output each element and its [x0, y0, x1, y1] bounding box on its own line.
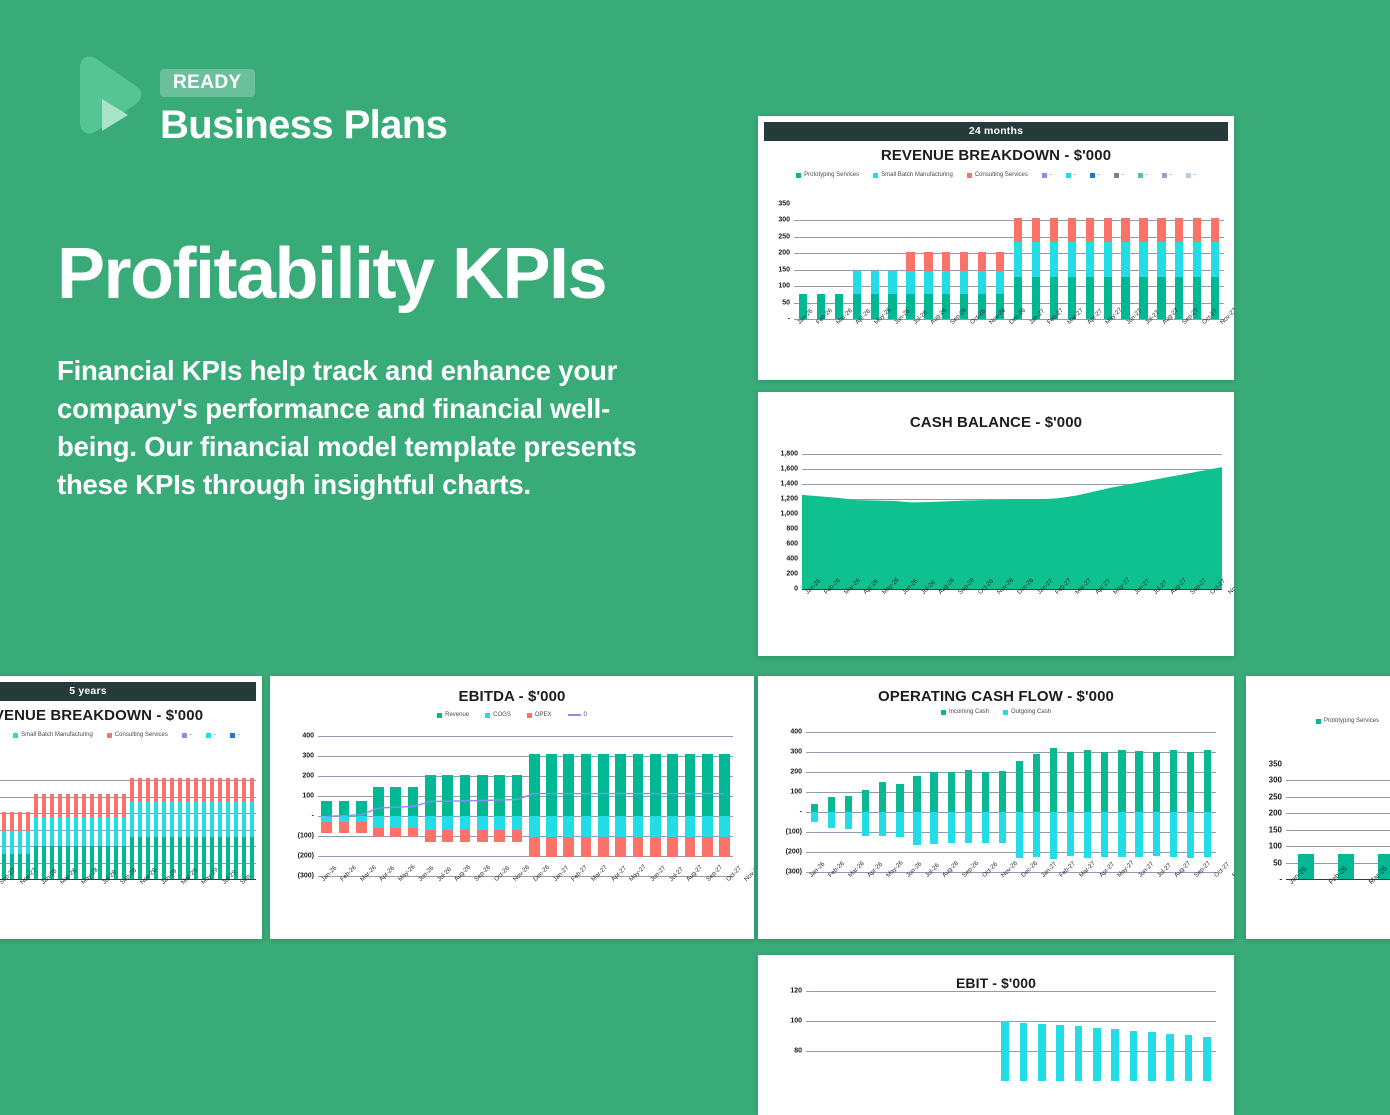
y-axis-tick-label: 1,000 — [780, 511, 802, 518]
bar-group — [1124, 991, 1142, 1081]
x-axis-tick-label: Nov-27 — [1227, 577, 1234, 596]
bar-segment — [34, 794, 38, 817]
y-axis-tick-label: (100) — [298, 833, 318, 840]
bar-segment — [18, 831, 22, 854]
bar-segment — [896, 784, 903, 812]
chart-bars — [0, 764, 256, 879]
bar-segment — [138, 778, 142, 802]
bar-segment — [210, 802, 214, 837]
legend-swatch — [1162, 173, 1167, 178]
bar-segment — [1056, 1025, 1064, 1081]
bar-segment — [1153, 752, 1160, 812]
bar-group — [96, 764, 104, 879]
bar-segment — [1135, 751, 1142, 812]
bar-group — [184, 764, 192, 879]
bar-segment — [1193, 218, 1201, 242]
bar-segment — [154, 778, 158, 802]
bar-segment — [913, 812, 920, 845]
bar-segment — [82, 794, 86, 817]
bar-segment — [1135, 812, 1142, 857]
bar-group — [902, 204, 920, 319]
bar-segment — [1139, 218, 1147, 242]
bar-group — [1045, 204, 1063, 319]
bar-group — [200, 764, 208, 879]
legend-label: Small Batch Manufacturing — [21, 732, 93, 738]
legend-label: COGS — [493, 712, 511, 718]
bar-segment — [98, 817, 102, 847]
bar-segment — [242, 778, 246, 802]
bar-segment — [186, 778, 190, 802]
chart-plot-area: 02004006008001,0001,2001,4001,6001,800Ja… — [802, 454, 1222, 589]
bar-segment — [1204, 812, 1211, 857]
bar-group — [56, 764, 64, 879]
legend-swatch — [1138, 173, 1143, 178]
y-axis-tick-label: 100 — [302, 793, 318, 800]
bar-segment — [828, 812, 835, 828]
legend-label: Small Batch Manufacturing — [881, 172, 953, 178]
bar-segment — [1014, 218, 1022, 242]
bar-segment — [1157, 242, 1165, 277]
legend-swatch — [1066, 173, 1071, 178]
bar-group — [857, 732, 874, 872]
y-axis-tick-label: (100) — [786, 829, 806, 836]
y-axis-tick-label: 250 — [778, 233, 794, 240]
chart-band-label: 5 years — [0, 682, 256, 701]
chart-plot-area: 12010080 — [806, 991, 1216, 1081]
bar-group — [794, 204, 812, 319]
bar-group — [823, 732, 840, 872]
bar-segment — [1075, 1026, 1083, 1081]
bar-group — [1148, 732, 1165, 872]
cash-balance-area — [802, 454, 1222, 589]
card-body: EBIT - $'000 — [764, 975, 1228, 991]
bar-segment — [1068, 218, 1076, 242]
y-axis-tick-label: 800 — [786, 526, 802, 533]
bar-segment — [178, 802, 182, 837]
legend-swatch — [230, 733, 235, 738]
bar-group — [1079, 732, 1096, 872]
legend-item: Consulting Services — [107, 732, 168, 738]
legend-label: OPEX — [535, 712, 552, 718]
legend-label: Consulting Services — [115, 732, 168, 738]
bar-segment — [98, 794, 102, 817]
legend-swatch — [13, 733, 18, 738]
y-axis-tick-label: 200 — [790, 769, 806, 776]
y-axis-tick-label: 200 — [1269, 809, 1286, 818]
bar-segment — [999, 771, 1006, 812]
bar-segment — [982, 812, 989, 843]
bar-group — [144, 764, 152, 879]
bar-segment — [1211, 242, 1219, 277]
bar-segment — [1016, 812, 1023, 858]
bar-group — [1081, 204, 1099, 319]
chart-title: EBIT - $'000 — [764, 975, 1228, 991]
bar-group — [973, 204, 991, 319]
bar-segment — [811, 804, 818, 812]
card-body: EBITDA - $'000RevenueCOGSOPEX0 — [276, 688, 748, 718]
bar-group — [1069, 991, 1087, 1081]
bar-segment — [1139, 242, 1147, 277]
legend-item: OPEX — [527, 712, 552, 718]
y-axis-tick-label: 300 — [1269, 776, 1286, 785]
bar-segment — [138, 837, 142, 879]
chart-card-prototyping-partial: Prototyping Services-5010015020025030035… — [1246, 676, 1390, 939]
bar-segment — [942, 252, 950, 271]
legend-label: - — [1122, 172, 1124, 178]
legend-swatch — [437, 713, 442, 718]
bar-segment — [1157, 218, 1165, 242]
bar-segment — [965, 770, 972, 812]
bar-segment — [250, 778, 254, 802]
legend-label: - — [1050, 172, 1052, 178]
bar-segment — [130, 802, 134, 837]
bar-segment — [106, 817, 110, 847]
legend-swatch — [941, 710, 946, 715]
bar-group — [1188, 204, 1206, 319]
chart-title: OPERATING CASH FLOW - $'000 — [764, 688, 1228, 705]
legend-item: Prototyping Services — [796, 172, 859, 178]
legend-label: Outgoing Cash — [1011, 709, 1051, 715]
bar-segment — [1101, 812, 1108, 857]
bar-segment — [1118, 812, 1125, 857]
bar-segment — [202, 802, 206, 837]
bar-group — [1117, 204, 1135, 319]
y-axis-tick-label: 400 — [302, 733, 318, 740]
bar-segment — [194, 778, 198, 802]
bar-group — [72, 764, 80, 879]
chart-plot-area: -50100150200250300350Jan-26Feb-26Mar-26A… — [1286, 764, 1390, 879]
legend-label: - — [1074, 172, 1076, 178]
y-axis-tick-label: 1,400 — [780, 481, 802, 488]
bar-segment — [1033, 812, 1040, 857]
bar-group — [812, 204, 830, 319]
bar-segment — [1093, 1028, 1101, 1081]
legend-item: - — [1186, 172, 1196, 178]
bar-segment — [146, 778, 150, 802]
bar-segment — [162, 802, 166, 837]
bar-segment — [170, 802, 174, 837]
bar-segment — [896, 812, 903, 837]
bar-group — [1011, 732, 1028, 872]
bar-segment — [1121, 218, 1129, 242]
bar-segment — [845, 796, 852, 812]
bar-group — [1152, 204, 1170, 319]
bar-group — [32, 764, 40, 879]
page-description: Financial KPIs help track and enhance yo… — [57, 352, 657, 504]
bar-segment — [226, 802, 230, 837]
bar-segment — [1050, 812, 1057, 859]
chart-plot-area: -50100150200250300350Jan-26Feb-26Mar-26A… — [794, 204, 1224, 319]
y-axis-tick-label: 400 — [790, 729, 806, 736]
bar-group — [830, 204, 848, 319]
bar-segment — [1050, 218, 1058, 242]
bar-group — [955, 204, 973, 319]
bar-group — [1088, 991, 1106, 1081]
chart-card-revenue-breakdown-24m: 24 monthsREVENUE BREAKDOWN - $'000Protot… — [758, 116, 1234, 380]
bar-segment — [1170, 750, 1177, 812]
bar-group — [216, 764, 224, 879]
bar-segment — [58, 846, 62, 879]
legend-item: Consulting Services — [967, 172, 1028, 178]
chart-card-operating-cash-flow: OPERATING CASH FLOW - $'000Incoming Cash… — [758, 676, 1234, 939]
x-axis-labels: Jan-26Feb-26Mar-26Apr-26May-26Jun-26Jul-… — [318, 878, 733, 885]
y-axis-tick-label: 200 — [778, 250, 794, 257]
bar-segment — [978, 271, 986, 294]
legend-label: - — [190, 732, 192, 738]
chart-title: EBITDA - $'000 — [276, 688, 748, 705]
bar-segment — [122, 794, 126, 817]
bar-group — [232, 764, 240, 879]
bar-group — [1143, 991, 1161, 1081]
bar-segment — [1104, 218, 1112, 242]
legend-label: - — [1098, 172, 1100, 178]
chart-plot-area: Mar-27May-27Jul-27Sep-27Nov-27Jan-28Mar-… — [0, 764, 256, 879]
y-axis-tick-label: 600 — [786, 541, 802, 548]
y-axis-tick-label: 250 — [1269, 792, 1286, 801]
legend-label: Prototyping Services — [804, 172, 859, 178]
legend-item: Incoming Cash — [941, 709, 989, 715]
bar-segment — [999, 812, 1006, 843]
chart-title: REVENUE BREAKDOWN - $'000 — [764, 147, 1228, 164]
bar-segment — [122, 817, 126, 847]
legend-item: Revenue — [437, 712, 469, 718]
bar-segment — [942, 271, 950, 294]
legend-label: - — [214, 732, 216, 738]
legend-swatch — [1316, 719, 1321, 724]
bar-segment — [1170, 812, 1177, 857]
bar-segment — [978, 252, 986, 271]
chart-legend: Prototyping ServicesSmall Batch Manufact… — [764, 172, 1228, 178]
bar-segment — [10, 831, 14, 854]
legend-item: - — [230, 732, 240, 738]
bar-segment — [879, 812, 886, 836]
bar-segment — [2, 812, 6, 831]
bar-segment — [906, 271, 914, 294]
legend-swatch — [796, 173, 801, 178]
bar-segment — [26, 812, 30, 831]
bar-segment — [234, 802, 238, 837]
chart-legend: Prototyping ServicesSmall Batch Manufact… — [0, 732, 256, 738]
bar-segment — [146, 802, 150, 837]
bar-group — [1206, 204, 1224, 319]
bar-segment — [1068, 242, 1076, 277]
y-axis-tick-label: 1,200 — [780, 496, 802, 503]
bar-group — [128, 764, 136, 879]
bar-segment — [906, 252, 914, 271]
bar-segment — [242, 802, 246, 837]
legend-swatch — [107, 733, 112, 738]
legend-item: Small Batch Manufacturing — [873, 172, 953, 178]
card-body: Prototyping Services — [1252, 694, 1390, 724]
y-axis-tick-label: 150 — [778, 266, 794, 273]
y-axis-tick-label: 1,800 — [780, 451, 802, 458]
bar-segment — [194, 802, 198, 837]
bar-segment — [178, 778, 182, 802]
bar-segment — [202, 837, 206, 879]
bar-segment — [18, 854, 22, 879]
bar-segment — [879, 782, 886, 812]
bar-group — [840, 732, 857, 872]
bar-segment — [50, 817, 54, 847]
bar-group — [866, 204, 884, 319]
bar-segment — [982, 772, 989, 812]
legend-item: Outgoing Cash — [1003, 709, 1051, 715]
bar-segment — [226, 778, 230, 802]
bar-segment — [10, 812, 14, 831]
bar-segment — [1187, 812, 1194, 858]
x-axis-labels: Jan-26Feb-26Mar-26Apr-26May-26Jun-26Jul-… — [794, 321, 1224, 328]
bar-segment — [948, 772, 955, 812]
bar-segment — [871, 271, 879, 294]
legend-item: COGS — [485, 712, 511, 718]
bar-group — [88, 764, 96, 879]
bar-group — [24, 764, 32, 879]
legend-label: - — [238, 732, 240, 738]
bar-segment — [2, 831, 6, 854]
brand-name: Business Plans — [160, 105, 447, 145]
bar-group — [1096, 732, 1113, 872]
bar-group — [1033, 991, 1051, 1081]
bar-segment — [1086, 242, 1094, 277]
bar-group — [40, 764, 48, 879]
bar-group — [1106, 991, 1124, 1081]
bar-segment — [960, 252, 968, 271]
chart-bars — [1286, 764, 1390, 879]
legend-label: Incoming Cash — [949, 709, 989, 715]
bar-group — [192, 764, 200, 879]
bar-segment — [162, 837, 166, 879]
bar-group — [16, 764, 24, 879]
legend-label: - — [1194, 172, 1196, 178]
legend-label: Revenue — [445, 712, 469, 718]
bar-segment — [1204, 750, 1211, 812]
bar-segment — [66, 817, 70, 847]
bar-segment — [1050, 242, 1058, 277]
chart-plot-area: (300)(200)(100)-100200300400Jan-26Feb-26… — [806, 732, 1216, 872]
bar-segment — [1067, 752, 1074, 812]
bar-segment — [1211, 218, 1219, 242]
bar-group — [848, 204, 866, 319]
bar-segment — [888, 294, 896, 319]
bar-segment — [90, 817, 94, 847]
bar-segment — [924, 271, 932, 294]
bar-segment — [250, 802, 254, 837]
legend-item: - — [1114, 172, 1124, 178]
legend-label: Consulting Services — [975, 172, 1028, 178]
bar-group — [1062, 732, 1079, 872]
bar-group — [926, 732, 943, 872]
bar-group — [1182, 732, 1199, 872]
bar-segment — [1185, 1035, 1193, 1081]
bar-segment — [1050, 748, 1057, 812]
bar-segment — [888, 271, 896, 294]
bar-segment — [202, 778, 206, 802]
bar-segment — [1038, 1024, 1046, 1081]
legend-label: - — [1146, 172, 1148, 178]
chart-band-label: 24 months — [764, 122, 1228, 141]
bar-segment — [106, 794, 110, 817]
legend-swatch — [1042, 173, 1047, 178]
y-axis-tick-label: 300 — [778, 217, 794, 224]
bar-segment — [1121, 277, 1129, 319]
bar-group — [874, 732, 891, 872]
y-axis-tick-label: (200) — [298, 853, 318, 860]
bar-segment — [960, 271, 968, 294]
bar-segment — [1101, 752, 1108, 812]
chart-bars — [806, 732, 1216, 872]
bar-group — [168, 764, 176, 879]
y-axis-tick-label: 100 — [1269, 842, 1286, 851]
bar-group — [160, 764, 168, 879]
bar-segment — [114, 817, 118, 847]
bar-group — [1063, 204, 1081, 319]
bar-group — [1051, 991, 1069, 1081]
legend-item: - — [182, 732, 192, 738]
legend-swatch — [873, 173, 878, 178]
legend-label: 0 — [584, 712, 587, 718]
card-body: CASH BALANCE - $'000 — [764, 414, 1228, 431]
bar-group — [80, 764, 88, 879]
bar-segment — [1084, 750, 1091, 812]
y-axis-tick-label: 120 — [790, 988, 806, 995]
bar-segment — [1153, 812, 1160, 856]
legend-swatch — [1186, 173, 1191, 178]
bar-segment — [98, 846, 102, 879]
bar-segment — [82, 817, 86, 847]
legend-item: - — [1066, 172, 1076, 178]
bar-segment — [1014, 242, 1022, 277]
chart-legend: Incoming CashOutgoing Cash — [764, 709, 1228, 715]
bar-group — [48, 764, 56, 879]
bar-segment — [1193, 242, 1201, 277]
bar-segment — [924, 252, 932, 271]
bar-group — [1161, 991, 1179, 1081]
x-axis-labels: Mar-27May-27Jul-27Sep-27Nov-27Jan-28Mar-… — [0, 881, 256, 888]
bar-segment — [1033, 754, 1040, 812]
bar-group — [1014, 991, 1032, 1081]
bar-segment — [66, 794, 70, 817]
y-axis-tick-label: 150 — [1269, 825, 1286, 834]
bar-segment — [1020, 1023, 1028, 1082]
legend-label: - — [1170, 172, 1172, 178]
y-axis-tick-label: 350 — [778, 201, 794, 208]
bar-segment — [996, 271, 1004, 294]
chart-bars — [996, 991, 1216, 1081]
bar-group — [208, 764, 216, 879]
bar-group — [937, 204, 955, 319]
bar-group — [248, 764, 256, 879]
bar-group — [1009, 204, 1027, 319]
legend-item: 0 — [568, 712, 587, 718]
x-axis-labels: Jan-26Feb-26Mar-26Apr-26May-26Jun-26Jul-… — [802, 591, 1222, 598]
bar-segment — [74, 794, 78, 817]
bar-group — [64, 764, 72, 879]
bar-segment — [170, 778, 174, 802]
bar-group — [977, 732, 994, 872]
bar-segment — [1111, 1029, 1119, 1081]
bar-group — [152, 764, 160, 879]
y-axis-tick-label: 400 — [786, 556, 802, 563]
page-title: Profitability KPIs — [57, 237, 697, 312]
legend-swatch — [485, 713, 490, 718]
bar-group — [1113, 732, 1130, 872]
chart-title: REVENUE BREAKDOWN - $'000 — [0, 707, 256, 724]
bar-segment — [58, 794, 62, 817]
bar-group — [1130, 732, 1147, 872]
bar-segment — [26, 831, 30, 854]
bar-group — [1179, 991, 1197, 1081]
legend-item: - — [206, 732, 216, 738]
